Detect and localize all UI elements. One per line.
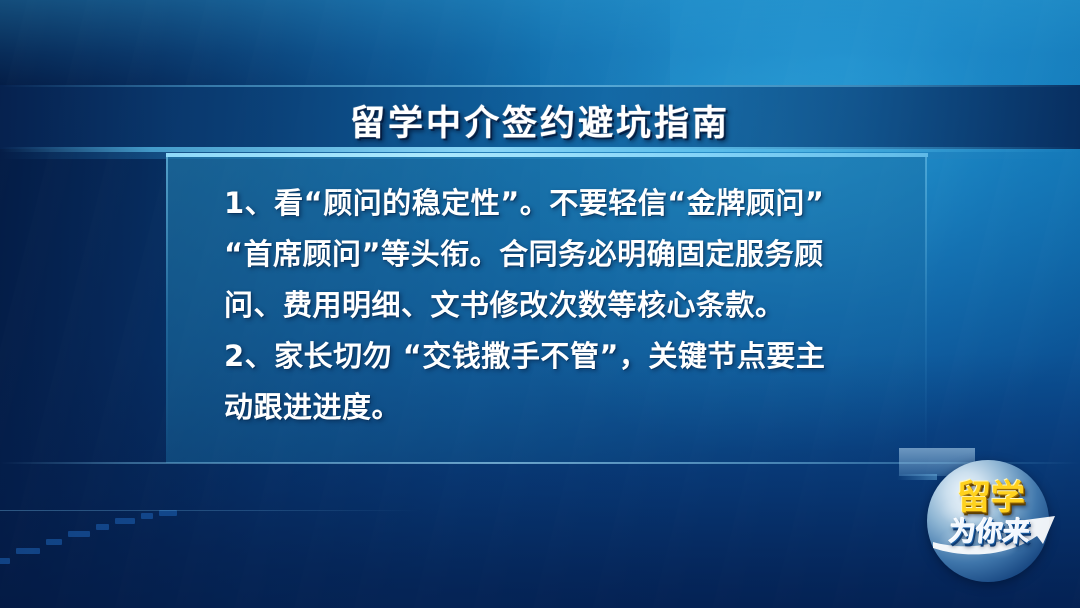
body-line: 2、家长切勿 “交钱撒手不管”，关键节点要主	[224, 331, 904, 382]
content-panel-left-edge	[166, 157, 168, 457]
body-line: 问、费用明细、文书修改次数等核心条款。	[224, 280, 904, 331]
body-line: 动跟进进度。	[224, 382, 904, 433]
body-line: “首席顾问”等头衔。合同务必明确固定服务顾	[224, 229, 904, 280]
body-line: 1、看“顾问的稳定性”。不要轻信“金牌顾问”	[224, 178, 904, 229]
broadcast-lower-third-graphic: 留学中介签约避坑指南 1、看“顾问的稳定性”。不要轻信“金牌顾问” “首席顾问”…	[0, 0, 1080, 608]
background-top-sheen	[0, 0, 1080, 90]
body-text-block: 1、看“顾问的稳定性”。不要轻信“金牌顾问” “首席顾问”等头衔。合同务必明确固…	[224, 178, 904, 433]
title-band-top-edge	[0, 85, 1080, 87]
logo-bottom-text: 为你来	[925, 510, 1055, 549]
channel-logo: 留学 为你来	[915, 452, 1067, 594]
lower-horizontal-line	[0, 510, 420, 511]
page-title: 留学中介签约避坑指南	[0, 95, 1080, 146]
content-panel-right-edge	[925, 157, 927, 457]
logo-side-bar	[897, 474, 937, 480]
content-panel-top-edge	[166, 153, 928, 157]
